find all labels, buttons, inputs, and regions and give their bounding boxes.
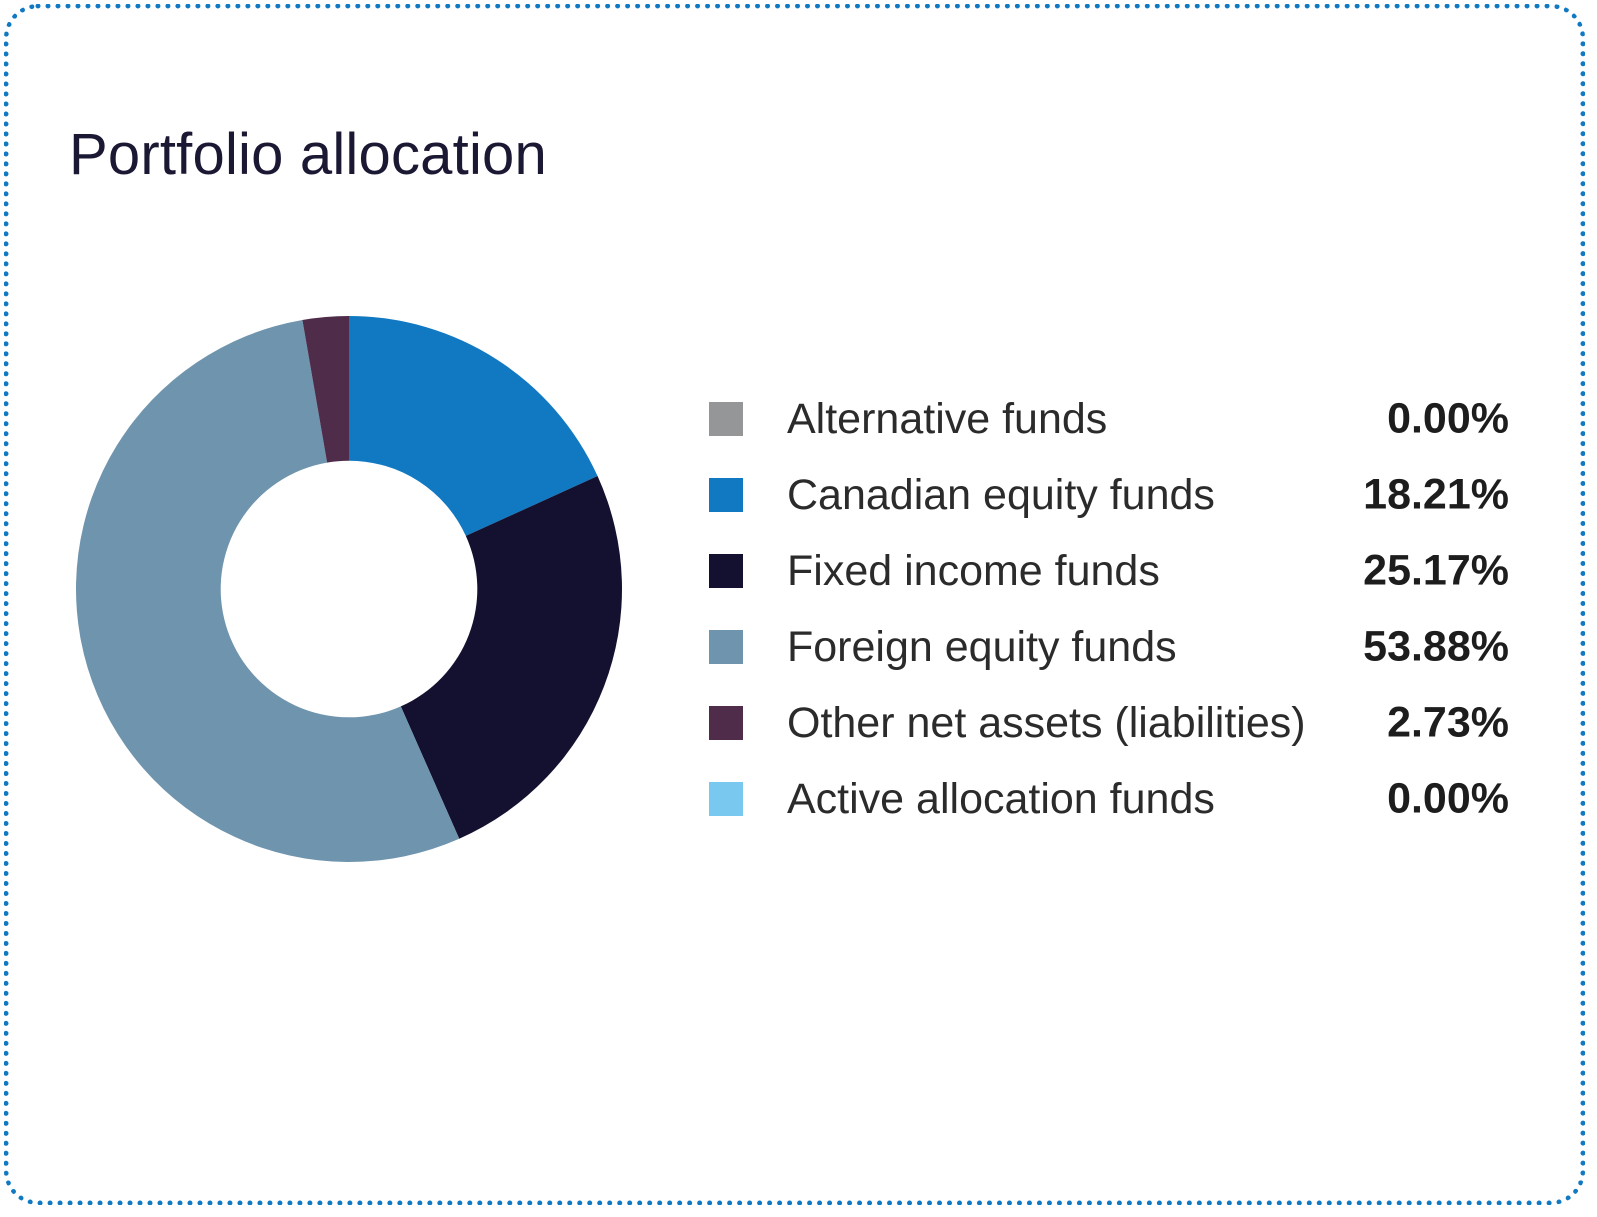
legend-item[interactable]: Canadian equity funds18.21% (709, 457, 1509, 533)
legend-color-swatch (709, 554, 743, 588)
donut-chart-svg (72, 312, 626, 866)
legend-item-label: Alternative funds (787, 398, 1107, 441)
chart-legend: Alternative funds0.00%Canadian equity fu… (709, 381, 1509, 837)
legend-color-swatch (709, 706, 743, 740)
legend-item[interactable]: Alternative funds0.00% (709, 381, 1509, 457)
legend-item[interactable]: Active allocation funds0.00% (709, 761, 1509, 837)
legend-item-label: Other net assets (liabilities) (787, 702, 1306, 745)
legend-item-label: Canadian equity funds (787, 474, 1215, 517)
legend-item[interactable]: Other net assets (liabilities)2.73% (709, 685, 1509, 761)
portfolio-allocation-card: Portfolio allocation Alternative funds0.… (4, 4, 1585, 1205)
legend-item[interactable]: Fixed income funds25.17% (709, 533, 1509, 609)
legend-item-value: 0.00% (1387, 398, 1509, 441)
donut-chart (72, 312, 626, 866)
legend-color-swatch (709, 630, 743, 664)
legend-item-value: 25.17% (1363, 550, 1509, 593)
legend-color-swatch (709, 478, 743, 512)
legend-item-value: 18.21% (1363, 474, 1509, 517)
legend-item-label: Fixed income funds (787, 550, 1160, 593)
legend-color-swatch (709, 782, 743, 816)
legend-item-value: 2.73% (1387, 702, 1509, 745)
page-title: Portfolio allocation (69, 121, 547, 188)
legend-item-value: 0.00% (1387, 778, 1509, 821)
legend-item-label: Foreign equity funds (787, 626, 1177, 669)
legend-color-swatch (709, 402, 743, 436)
legend-item-value: 53.88% (1363, 626, 1509, 669)
legend-item-label: Active allocation funds (787, 778, 1215, 821)
legend-item[interactable]: Foreign equity funds53.88% (709, 609, 1509, 685)
